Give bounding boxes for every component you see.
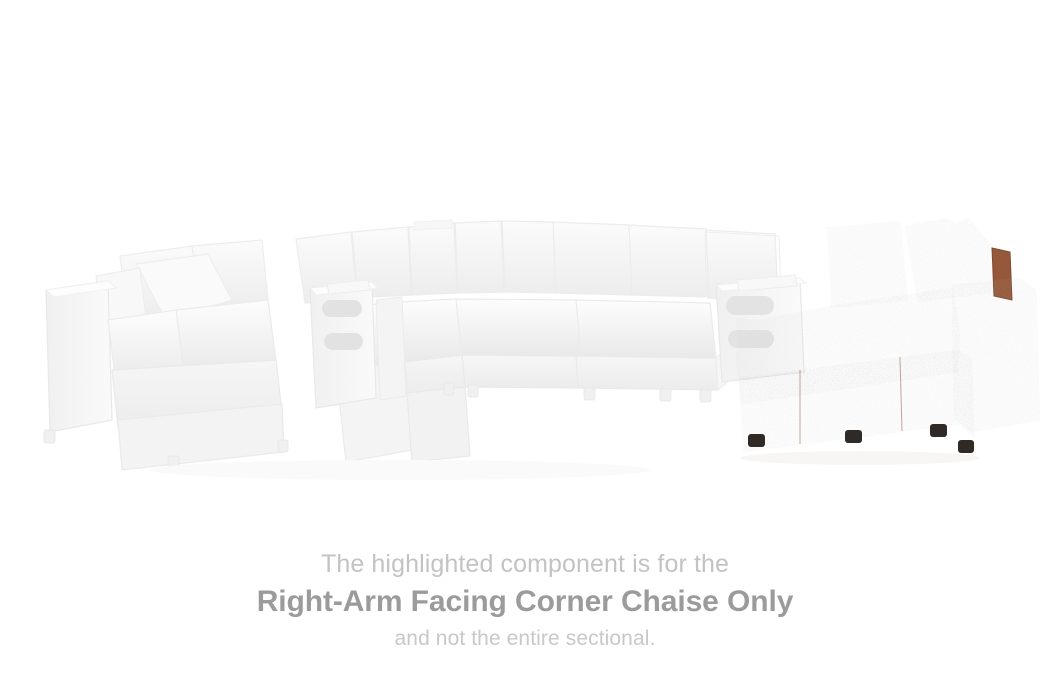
chaise-foot bbox=[748, 434, 765, 447]
faded-armless-chair bbox=[376, 297, 406, 400]
chaise-right-arm-outer bbox=[968, 290, 1040, 432]
faded-sectional-group bbox=[44, 220, 806, 480]
product-image bbox=[0, 0, 1050, 520]
faded-base-right bbox=[575, 356, 718, 390]
chaise-foot bbox=[958, 440, 974, 453]
faded-console-left bbox=[310, 280, 378, 408]
product-highlight-page: The highlighted component is for the Rig… bbox=[0, 0, 1050, 700]
highlighted-raf-corner-chaise bbox=[736, 218, 1040, 465]
cupholder-icon bbox=[322, 300, 362, 317]
chaise-base-right bbox=[958, 350, 974, 438]
faded-left-arm bbox=[46, 281, 112, 432]
caption-block: The highlighted component is for the Rig… bbox=[0, 548, 1050, 653]
caption-line-2-component-name: Right-Arm Facing Corner Chaise Only bbox=[0, 582, 1050, 622]
caption-line-3: and not the entire sectional. bbox=[0, 625, 1050, 653]
chaise-back-cushion bbox=[827, 221, 908, 308]
faded-loveseat-left bbox=[44, 240, 288, 470]
chaise-foot bbox=[930, 424, 947, 437]
chaise-foot bbox=[845, 430, 862, 443]
caption-line-1: The highlighted component is for the bbox=[0, 548, 1050, 580]
cupholder-icon bbox=[726, 296, 774, 315]
cupholder-icon bbox=[324, 333, 363, 350]
sectional-sofa-illustration bbox=[0, 0, 1050, 520]
